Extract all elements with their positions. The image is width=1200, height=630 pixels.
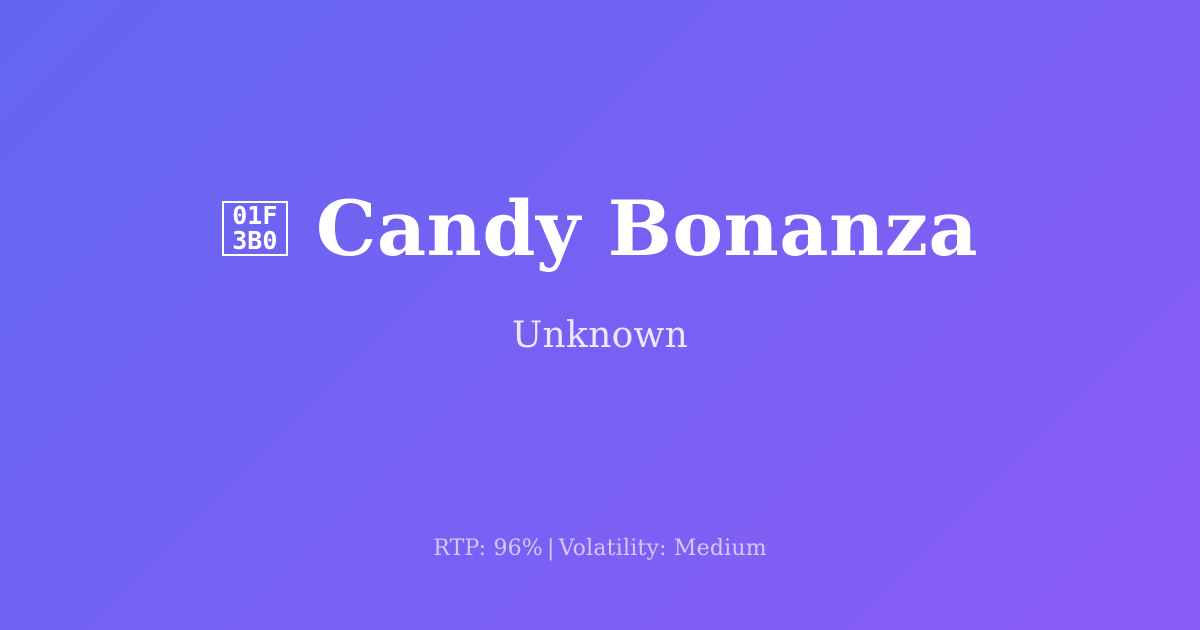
slot-machine-icon-hex-bottom: 3B0 (232, 228, 277, 253)
volatility-value: Volatility: Medium (559, 536, 767, 561)
slot-machine-icon-hex-top: 01F (232, 203, 277, 228)
og-share-card: 01F 3B0 Candy Bonanza Unknown RTP: 96%|V… (0, 0, 1200, 630)
slot-machine-icon: 01F 3B0 (222, 201, 288, 256)
title-row: 01F 3B0 Candy Bonanza (222, 189, 978, 269)
game-meta-footer: RTP: 96%|Volatility: Medium (0, 536, 1200, 562)
provider-subtitle: Unknown (512, 314, 688, 357)
meta-separator: | (543, 536, 559, 561)
hero-block: 01F 3B0 Candy Bonanza Unknown (0, 189, 1200, 358)
page-title: Candy Bonanza (316, 189, 978, 269)
rtp-value: RTP: 96% (433, 536, 543, 561)
